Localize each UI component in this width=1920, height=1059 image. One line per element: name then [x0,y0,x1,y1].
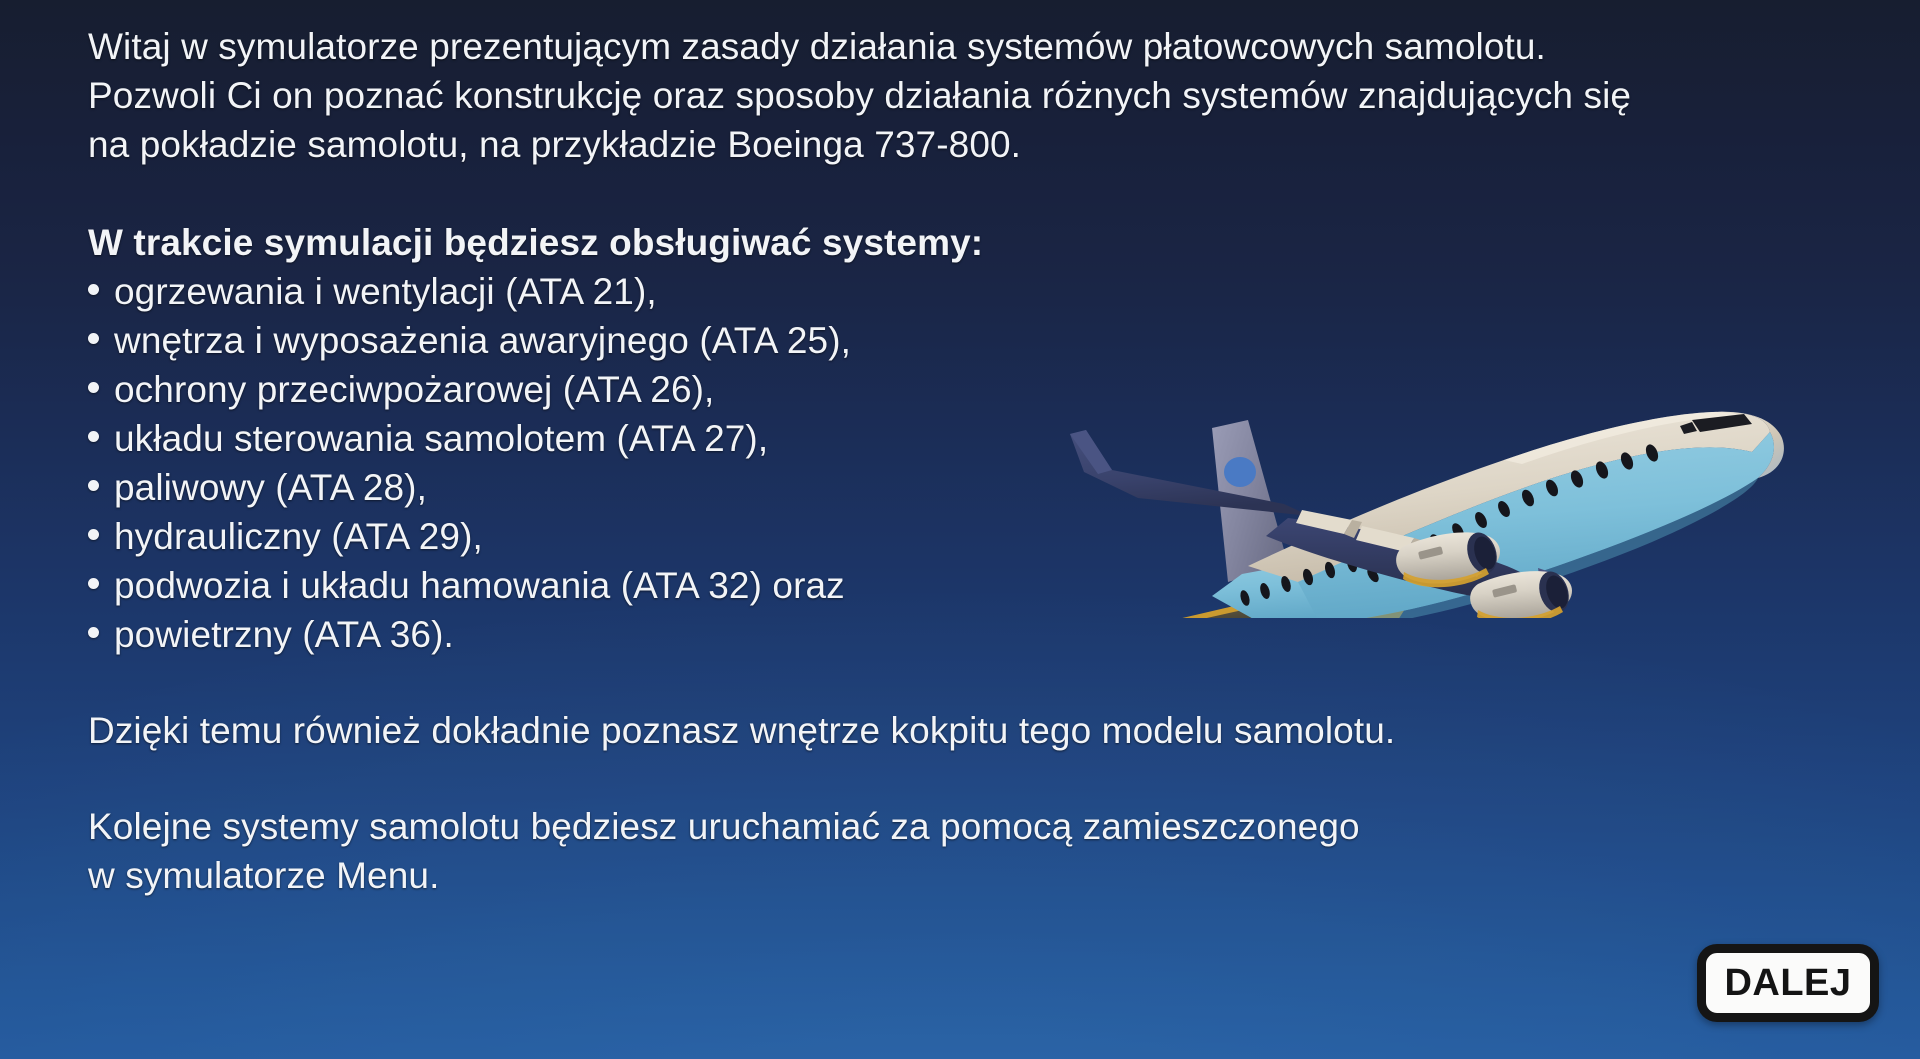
bullet-dot-icon [88,627,99,638]
intro-line-1: Witaj w symulatorze prezentującym zasady… [88,22,1648,71]
bullet-dot-icon [88,382,99,393]
bullet-dot-icon [88,480,99,491]
next-button[interactable]: DALEJ [1697,944,1879,1022]
spacer-after-list [88,659,1648,706]
outro-line-3: w symulatorze Menu. [88,851,1648,900]
bullet-dot-icon [88,431,99,442]
system-item-ata21: ogrzewania i wentylacji (ATA 21), [88,267,1648,316]
system-item-ata26: ochrony przeciwpożarowej (ATA 26), [88,365,1648,414]
system-item-ata25: wnętrza i wyposażenia awaryjnego (ATA 25… [88,316,1648,365]
intro-line-2: Pozwoli Ci on poznać konstrukcję oraz sp… [88,71,1648,120]
slide-root: Witaj w symulatorze prezentującym zasady… [0,0,1920,1059]
systems-heading: W trakcie symulacji będziesz obsługiwać … [88,218,1648,267]
system-item-label: powietrzny (ATA 36). [114,610,454,659]
spacer-after-intro [88,169,1648,218]
system-item-ata28: paliwowy (ATA 28), [88,463,1648,512]
bullet-dot-icon [88,333,99,344]
system-item-label: wnętrza i wyposażenia awaryjnego (ATA 25… [114,316,851,365]
spacer-after-outro-1 [88,755,1648,802]
system-item-label: podwozia i układu hamowania (ATA 32) ora… [114,561,845,610]
system-item-ata27: układu sterowania samolotem (ATA 27), [88,414,1648,463]
bullet-dot-icon [88,284,99,295]
system-item-ata32: podwozia i układu hamowania (ATA 32) ora… [88,561,1648,610]
outro-line-1: Dzięki temu również dokładnie poznasz wn… [88,706,1648,755]
outro-line-2: Kolejne systemy samolotu będziesz urucha… [88,802,1648,851]
system-item-label: ochrony przeciwpożarowej (ATA 26), [114,365,714,414]
slide-text-content: Witaj w symulatorze prezentującym zasady… [88,22,1648,900]
system-item-ata29: hydrauliczny (ATA 29), [88,512,1648,561]
system-item-label: układu sterowania samolotem (ATA 27), [114,414,768,463]
system-item-ata36: powietrzny (ATA 36). [88,610,1648,659]
bullet-dot-icon [88,578,99,589]
system-item-label: ogrzewania i wentylacji (ATA 21), [114,267,657,316]
bullet-dot-icon [88,529,99,540]
system-item-label: hydrauliczny (ATA 29), [114,512,483,561]
system-item-label: paliwowy (ATA 28), [114,463,427,512]
next-button-label: DALEJ [1724,962,1851,1005]
intro-line-3: na pokładzie samolotu, na przykładzie Bo… [88,120,1648,169]
